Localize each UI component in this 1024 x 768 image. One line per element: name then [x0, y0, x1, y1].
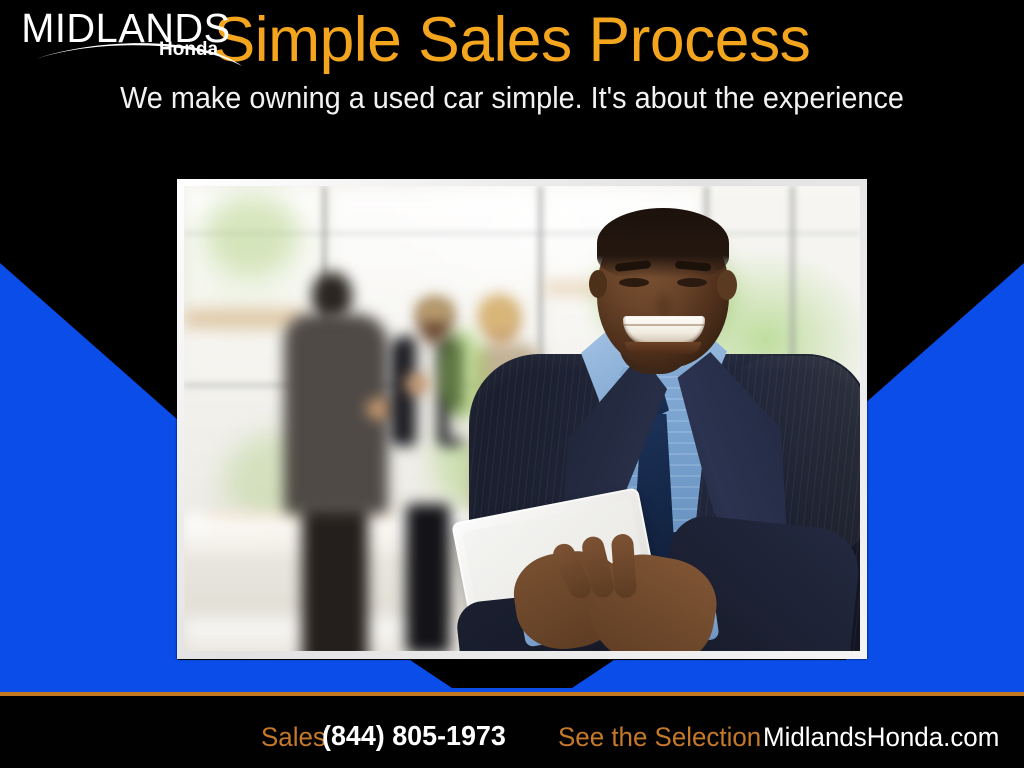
see-the-selection-label: See the Selection — [558, 722, 761, 752]
lower-lip — [625, 342, 701, 354]
dealer-logo[interactable]: MIDLANDS Honda — [16, 6, 248, 68]
bg-person-legs — [406, 504, 450, 651]
website-link[interactable]: MidlandsHonda.com — [763, 722, 999, 752]
page-subtitle: We make owning a used car simple. It's a… — [36, 80, 988, 116]
eye-left — [619, 278, 649, 287]
bg-person-hand — [404, 374, 430, 394]
ad-banner: Simple Sales Process We make owning a us… — [0, 0, 1024, 768]
sales-phone-number[interactable]: (844) 805-1973 — [322, 721, 506, 751]
ear-right — [717, 270, 737, 300]
swoosh-icon — [16, 42, 248, 70]
warm-accent — [184, 310, 304, 328]
eye-right — [677, 278, 707, 287]
hero-photo — [184, 186, 860, 651]
finger — [611, 533, 637, 598]
sales-label: Sales — [261, 722, 326, 752]
bg-person-hair — [416, 296, 454, 322]
nose — [651, 288, 677, 316]
ear-left — [589, 270, 607, 298]
foreground-businessman — [469, 204, 860, 651]
bg-person-legs — [302, 498, 368, 651]
teeth-line — [623, 324, 705, 326]
hero-photo-frame — [177, 179, 867, 659]
bg-person-head — [312, 272, 352, 318]
foliage — [204, 194, 300, 274]
